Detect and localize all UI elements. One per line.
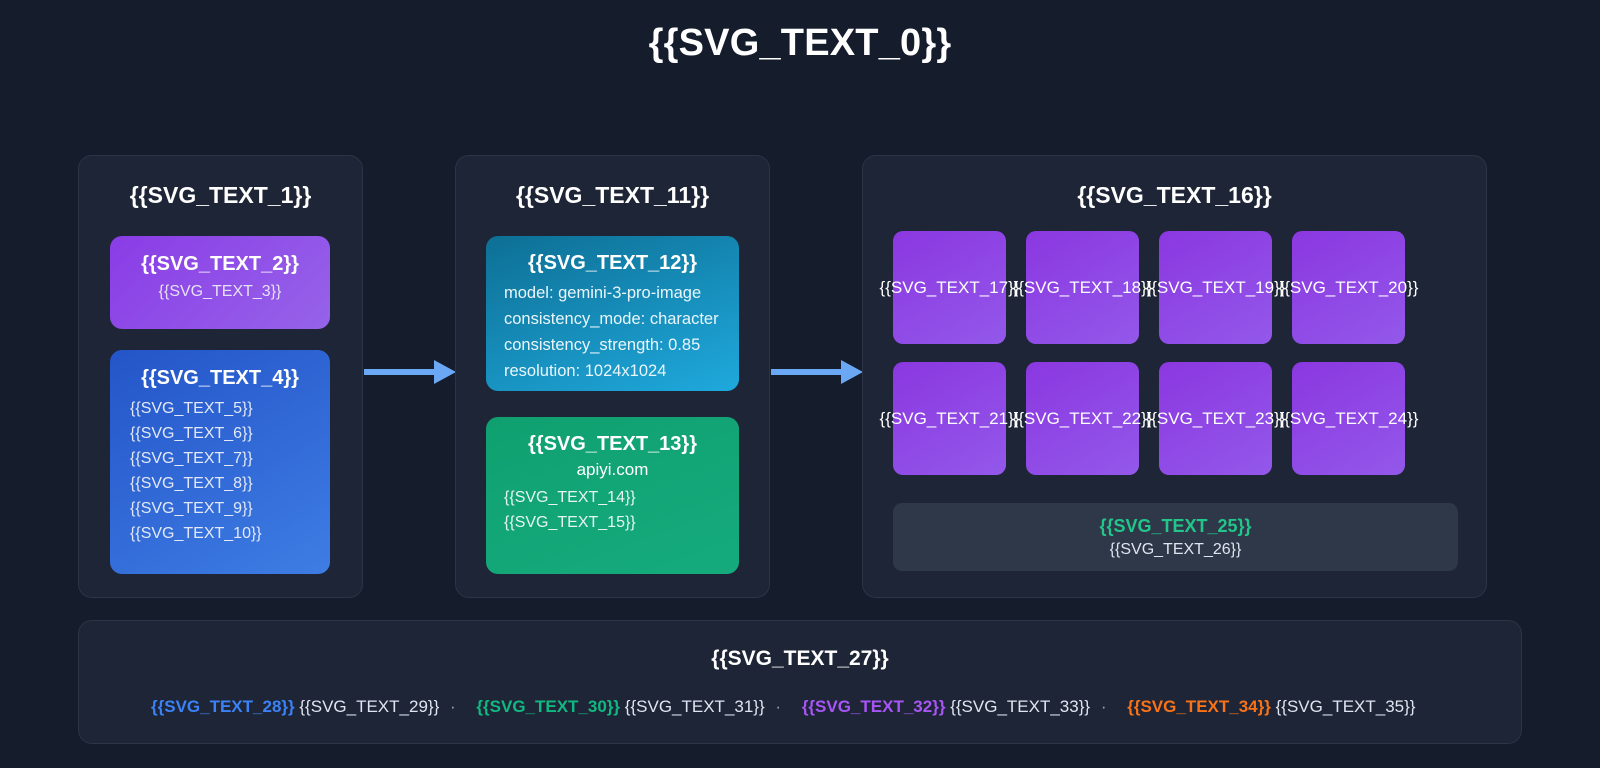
scenes-card-line: {{SVG_TEXT_6}} bbox=[130, 421, 310, 446]
config-card-title: {{SVG_TEXT_12}} bbox=[504, 252, 721, 275]
platform-domain: apiyi.com bbox=[504, 460, 721, 480]
output-tile-grid: {{SVG_TEXT_17}} {{SVG_TEXT_18}} {{SVG_TE… bbox=[893, 231, 1458, 475]
output-tile[interactable]: {{SVG_TEXT_22}} bbox=[1026, 362, 1139, 475]
output-tile[interactable]: {{SVG_TEXT_20}} bbox=[1292, 231, 1405, 344]
character-card-title: {{SVG_TEXT_2}} bbox=[110, 253, 330, 276]
arrow-head bbox=[434, 360, 456, 384]
diagram-canvas: {{SVG_TEXT_0}} {{SVG_TEXT_1}} {{SVG_TEXT… bbox=[0, 0, 1600, 768]
scenes-card-title: {{SVG_TEXT_4}} bbox=[130, 367, 310, 390]
result-headline: {{SVG_TEXT_25}} bbox=[893, 516, 1458, 537]
platform-card[interactable]: {{SVG_TEXT_13}} apiyi.com {{SVG_TEXT_14}… bbox=[486, 417, 739, 574]
footer-title: {{SVG_TEXT_27}} bbox=[79, 647, 1521, 671]
scenes-card-line: {{SVG_TEXT_5}} bbox=[130, 396, 310, 421]
legend-value-2: {{SVG_TEXT_31}} bbox=[625, 697, 765, 716]
output-tile-label: {{SVG_TEXT_24}} bbox=[1279, 409, 1419, 429]
footer-panel: {{SVG_TEXT_27}} {{SVG_TEXT_28}} {{SVG_TE… bbox=[78, 620, 1522, 744]
output-tile[interactable]: {{SVG_TEXT_17}} bbox=[893, 231, 1006, 344]
legend-key-4: {{SVG_TEXT_34}} bbox=[1127, 697, 1271, 716]
output-tile[interactable]: {{SVG_TEXT_19}} bbox=[1159, 231, 1272, 344]
legend-separator: · bbox=[775, 697, 781, 716]
flow-arrow-icon bbox=[771, 360, 867, 384]
output-tile-label: {{SVG_TEXT_21}} bbox=[880, 409, 1020, 429]
output-tile-label: {{SVG_TEXT_20}} bbox=[1279, 278, 1419, 298]
input-panel-title: {{SVG_TEXT_1}} bbox=[79, 182, 362, 209]
scenes-card-line: {{SVG_TEXT_10}} bbox=[130, 521, 310, 546]
platform-card-title: {{SVG_TEXT_13}} bbox=[504, 433, 721, 456]
config-line-consistency-mode: consistency_mode: character bbox=[504, 306, 721, 332]
output-tile-label: {{SVG_TEXT_22}} bbox=[1013, 409, 1153, 429]
flow-arrow-icon bbox=[364, 360, 460, 384]
config-card[interactable]: {{SVG_TEXT_12}} model: gemini-3-pro-imag… bbox=[486, 236, 739, 391]
scenes-card-line: {{SVG_TEXT_7}} bbox=[130, 446, 310, 471]
legend-separator: · bbox=[1101, 697, 1107, 716]
config-line-model: model: gemini-3-pro-image bbox=[504, 280, 721, 306]
legend-key-3: {{SVG_TEXT_32}} bbox=[802, 697, 946, 716]
result-subtitle: {{SVG_TEXT_26}} bbox=[893, 541, 1458, 559]
platform-card-line: {{SVG_TEXT_15}} bbox=[504, 510, 721, 535]
arrow-shaft bbox=[364, 369, 438, 375]
result-summary-bar: {{SVG_TEXT_25}} {{SVG_TEXT_26}} bbox=[893, 503, 1458, 571]
output-tile-label: {{SVG_TEXT_18}} bbox=[1013, 278, 1153, 298]
footer-legend: {{SVG_TEXT_28}} {{SVG_TEXT_29}} · {{SVG_… bbox=[79, 697, 1523, 717]
config-line-resolution: resolution: 1024x1024 bbox=[504, 358, 721, 384]
scenes-card[interactable]: {{SVG_TEXT_4}} {{SVG_TEXT_5}} {{SVG_TEXT… bbox=[110, 350, 330, 574]
output-tile[interactable]: {{SVG_TEXT_23}} bbox=[1159, 362, 1272, 475]
character-card[interactable]: {{SVG_TEXT_2}} {{SVG_TEXT_3}} bbox=[110, 236, 330, 329]
engine-panel-title: {{SVG_TEXT_11}} bbox=[456, 182, 769, 209]
output-tile[interactable]: {{SVG_TEXT_24}} bbox=[1292, 362, 1405, 475]
page-title: {{SVG_TEXT_0}} bbox=[0, 22, 1600, 65]
output-tile-label: {{SVG_TEXT_17}} bbox=[880, 278, 1020, 298]
legend-value-1: {{SVG_TEXT_29}} bbox=[299, 697, 439, 716]
legend-separator: · bbox=[450, 697, 456, 716]
output-tile[interactable]: {{SVG_TEXT_21}} bbox=[893, 362, 1006, 475]
scenes-card-line: {{SVG_TEXT_9}} bbox=[130, 496, 310, 521]
output-tile[interactable]: {{SVG_TEXT_18}} bbox=[1026, 231, 1139, 344]
legend-value-3: {{SVG_TEXT_33}} bbox=[950, 697, 1090, 716]
legend-value-4: {{SVG_TEXT_35}} bbox=[1276, 697, 1416, 716]
character-card-subtitle: {{SVG_TEXT_3}} bbox=[110, 283, 330, 301]
legend-key-1: {{SVG_TEXT_28}} bbox=[151, 697, 295, 716]
platform-card-line: {{SVG_TEXT_14}} bbox=[504, 485, 721, 510]
output-panel-title: {{SVG_TEXT_16}} bbox=[863, 182, 1486, 209]
output-tile-label: {{SVG_TEXT_19}} bbox=[1146, 278, 1286, 298]
output-tile-label: {{SVG_TEXT_23}} bbox=[1146, 409, 1286, 429]
arrow-head bbox=[841, 360, 863, 384]
legend-key-2: {{SVG_TEXT_30}} bbox=[476, 697, 620, 716]
scenes-card-line: {{SVG_TEXT_8}} bbox=[130, 471, 310, 496]
config-line-consistency-strength: consistency_strength: 0.85 bbox=[504, 332, 721, 358]
arrow-shaft bbox=[771, 369, 845, 375]
